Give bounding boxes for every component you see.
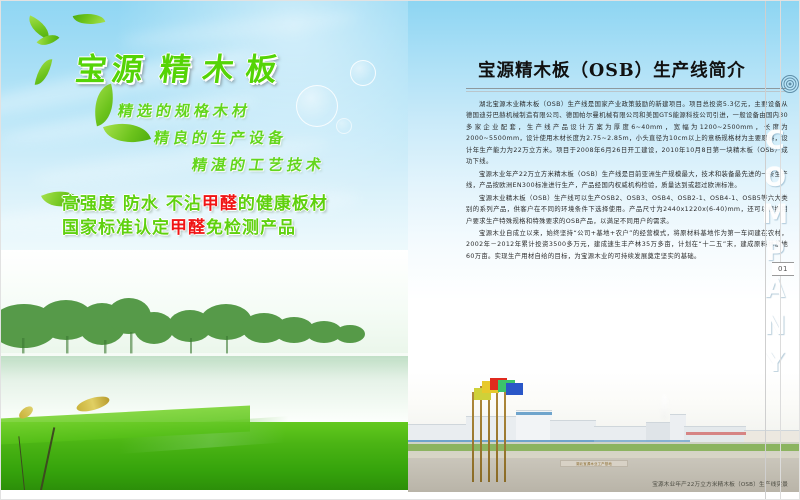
landscape-grass bbox=[0, 422, 408, 490]
promo-line-1-text-a: 高强度 防水 不沾 bbox=[62, 194, 202, 214]
flag-pole bbox=[504, 390, 506, 482]
slogan-line-3: 精湛的工艺技术 bbox=[191, 158, 381, 173]
factory-green-strip bbox=[408, 444, 800, 451]
brochure-spread: 宝源精木板 精选的规格木材 精良的生产设备 精湛的工艺技术 高强度 防水 不沾甲… bbox=[0, 0, 800, 500]
promo-line-1: 高强度 防水 不沾甲醛的健康板材 bbox=[62, 192, 402, 216]
factory-photo: 湖北宝源木业工产基地 宝源木业年产22万立方米精木板（OSB）生产线实景 bbox=[408, 372, 800, 492]
flag-pole bbox=[472, 392, 474, 482]
seal-circles-icon bbox=[780, 74, 799, 93]
brand-title-part2: 精木板 bbox=[157, 52, 290, 88]
brand-title-part1: 宝源 bbox=[73, 52, 149, 88]
flag-blue bbox=[506, 383, 523, 395]
title-divider bbox=[466, 88, 786, 89]
article-body: 湖北宝源木业精木板（OSB）生产线是国家产业政策鼓励的新建项目。项目总投资5.3… bbox=[466, 99, 788, 263]
promo-block: 高强度 防水 不沾甲醛的健康板材 国家标准认定甲醛免检测产品 bbox=[62, 192, 402, 240]
margin-rule bbox=[765, 0, 766, 500]
factory-gate-sign: 湖北宝源木业工产基地 bbox=[560, 460, 628, 467]
slogan-block: 精选的规格木材 精良的生产设备 精湛的工艺技术 bbox=[110, 104, 380, 173]
page-title: 宝源精木板（OSB）生产线简介 bbox=[478, 57, 778, 82]
tree-line bbox=[0, 298, 408, 360]
paragraph: 湖北宝源木业精木板（OSB）生产线是国家产业政策鼓励的新建项目。项目总投资5.3… bbox=[466, 99, 788, 168]
title-divider-secondary bbox=[466, 91, 786, 92]
margin-rule-outer bbox=[780, 0, 781, 500]
promo-line-2-text-a: 国家标准认定 bbox=[62, 218, 170, 238]
paragraph: 宝源木业精木板（OSB）生产线可以生产OSB2、OSB3、OSB4、OSB2-1… bbox=[466, 193, 788, 227]
slogan-line-2: 精良的生产设备 bbox=[153, 131, 381, 146]
flag-pole bbox=[480, 386, 482, 482]
paragraph: 宝源木业年产22万立方米精木板（OSB）生产线是目前亚洲生产规模最大，技术和装备… bbox=[466, 169, 788, 192]
promo-line-1-highlight: 甲醛 bbox=[202, 194, 238, 214]
page-spine bbox=[407, 0, 409, 500]
paragraph: 宝源木业自成立以来，始终坚持“公司+基地+农户”的经营模式，将原材料基地作为第一… bbox=[466, 228, 788, 262]
brand-title: 宝源精木板 bbox=[73, 44, 379, 89]
landscape-photo bbox=[0, 250, 408, 490]
left-page: 宝源精木板 精选的规格木材 精良的生产设备 精湛的工艺技术 高强度 防水 不沾甲… bbox=[0, 0, 408, 500]
slogan-line-1: 精选的规格木材 bbox=[117, 104, 381, 119]
page-number: 01 bbox=[772, 262, 794, 276]
promo-line-2-text-b: 免检测产品 bbox=[206, 218, 296, 238]
factory-buildings bbox=[408, 410, 800, 444]
promo-line-2: 国家标准认定甲醛免检测产品 bbox=[62, 216, 402, 240]
photo-caption: 宝源木业年产22万立方米精木板（OSB）生产线实景 bbox=[652, 480, 788, 488]
flag-pole bbox=[496, 386, 498, 482]
promo-line-2-highlight: 甲醛 bbox=[170, 218, 206, 238]
promo-line-1-text-b: 的健康板材 bbox=[238, 194, 328, 214]
